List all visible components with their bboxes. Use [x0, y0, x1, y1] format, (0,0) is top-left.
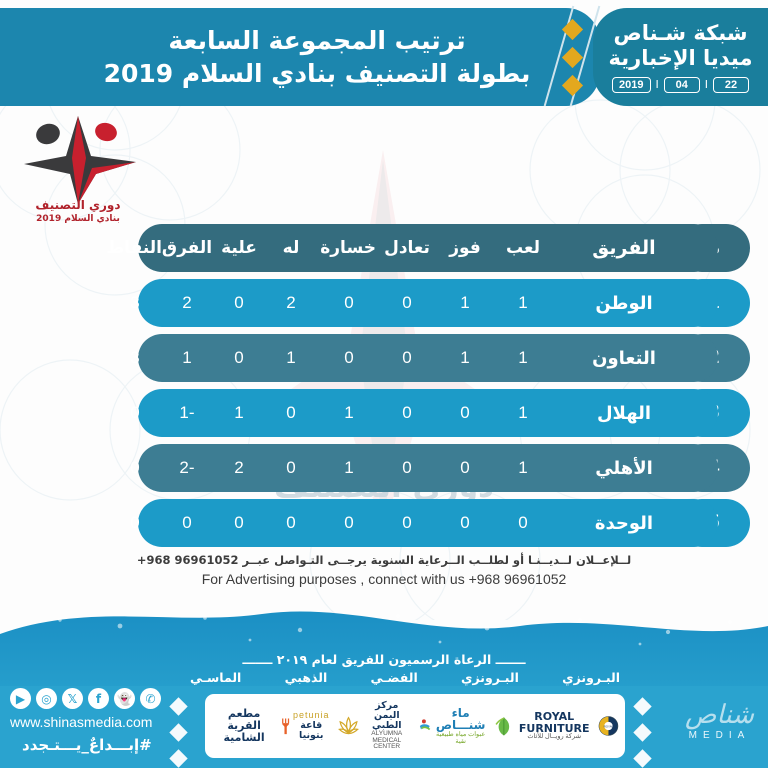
row-draw: 0	[380, 293, 434, 313]
logo-caption-line1: دوري التصنيف	[18, 199, 138, 212]
date-separator: I	[656, 78, 659, 91]
row-played: 1	[496, 348, 550, 368]
ads-arabic-text: لــلإعــلان لــديــنـا أو لطلــب الــرعا…	[0, 552, 768, 569]
row-main: الوطن 1 1 0 0 2 0 2 3	[138, 279, 718, 327]
tier-label: البـرونزي	[461, 670, 519, 685]
row-won: 0	[438, 458, 492, 478]
row-won: 0	[438, 513, 492, 533]
media-brand-sub: MEDIA	[685, 730, 754, 741]
row-team: الهلال	[564, 403, 684, 424]
row-team: الأهلي	[564, 458, 684, 479]
row-lost: 0	[322, 513, 376, 533]
twitter-icon[interactable]: 𝕏	[62, 688, 83, 709]
row-goals-against: 0	[212, 513, 266, 533]
row-draw: 0	[380, 513, 434, 533]
header-col-played: لعب	[496, 238, 550, 258]
row-team: الوحدة	[564, 513, 684, 534]
row-main: الهلال 1 0 0 1 0 1 -1 0	[138, 389, 718, 437]
row-goals-against: 1	[212, 403, 266, 423]
row-lost: 1	[322, 403, 376, 423]
social-links: ✆ 👻 f 𝕏 ◎ ▶	[10, 688, 161, 709]
date-month: 04	[664, 77, 700, 93]
row-draw: 0	[380, 348, 434, 368]
row-won: 1	[438, 293, 492, 313]
sponsor-name-ar: قاعة بتونيا	[290, 721, 332, 741]
table-row[interactable]: 4 الأهلي 1 0 0 1 0 2 -2 0	[0, 444, 768, 492]
sponsor-tiers: البـرونزي البـرونزي الفضـي الذهبي الماسـ…	[190, 670, 620, 685]
tier-label: الماسـي	[190, 670, 241, 685]
row-played: 1	[496, 458, 550, 478]
row-main: الأهلي 1 0 0 1 0 2 -2 0	[138, 444, 718, 492]
row-goals-for: 0	[264, 458, 318, 478]
sponsor-name-en: ALYUMNA MEDICAL CENTER	[361, 731, 413, 751]
sponsor-logos-card: ROYAL ROYAL FURNITURE شركة رويــال للأثا…	[205, 694, 625, 758]
row-points: 3	[108, 293, 162, 313]
ads-english-text: For Advertising purposes , connect with …	[0, 569, 768, 589]
sponsor-shamia-village-restaurant[interactable]: مطعم القرية الشامية	[211, 708, 290, 745]
page-title-line1: ترتيب المجموعة السابعة	[104, 24, 531, 57]
royal-furniture-icon: ROYAL	[598, 711, 619, 741]
diamond-icon	[562, 47, 583, 68]
table-row[interactable]: 2 التعاون 1 1 0 0 1 0 1 3	[0, 334, 768, 382]
header-col-goals-for: له	[264, 238, 318, 258]
row-lost: 1	[322, 458, 376, 478]
divider-diamonds	[552, 8, 592, 106]
row-goal-diff: -1	[160, 403, 214, 423]
sponsor-alyumna-medical[interactable]: مركز اليمن الطبي ALYUMNA MEDICAL CENTER	[361, 701, 433, 751]
row-won: 1	[438, 348, 492, 368]
tier-label: الفضـي	[371, 670, 418, 685]
sponsor-name-ar: ماء شنـــاص	[433, 707, 489, 732]
snapchat-icon[interactable]: 👻	[114, 688, 135, 709]
row-points: 3	[108, 348, 162, 368]
brand-line2: ميديا الإخبارية	[609, 46, 753, 70]
header-col-goal-diff: الفرق	[160, 238, 214, 258]
advertising-notice: لــلإعــلان لــديــنـا أو لطلــب الــرعا…	[0, 552, 768, 590]
table-row[interactable]: 3 الهلال 1 0 0 1 0 1 -1 0	[0, 389, 768, 437]
row-goals-for: 0	[264, 403, 318, 423]
date-separator: I	[705, 78, 708, 91]
row-goal-diff: 1	[160, 348, 214, 368]
row-lost: 0	[322, 348, 376, 368]
fork-icon	[281, 711, 290, 741]
sponsor-name-ar: شركة رويــال للأثاث	[514, 734, 594, 741]
header-team: الفريق	[564, 237, 684, 259]
row-played: 1	[496, 403, 550, 423]
sponsor-shinas-water[interactable]: ماء شنـــاص عبوات مياه طبيعية نقية	[433, 707, 515, 746]
row-won: 0	[438, 403, 492, 423]
media-brand-logo: شناص MEDIA	[685, 700, 754, 741]
row-played: 1	[496, 293, 550, 313]
row-lost: 0	[322, 293, 376, 313]
sponsors-heading: ـــــــ الرعاة الرسميون للفريق لعام ٢٠١٩…	[0, 652, 768, 667]
tier-label: الذهبي	[285, 670, 328, 685]
row-points: 0	[108, 458, 162, 478]
row-draw: 0	[380, 403, 434, 423]
header-col-won: فوز	[438, 238, 492, 258]
standings-table: م الفريق لعب فوز تعادل خسارة له علية الف…	[0, 224, 768, 554]
sponsor-name-en: عبوات مياه طبيعية نقية	[433, 732, 489, 746]
hashtag-slogan: #إبـــداعٌ_يـــتـجدد	[22, 736, 152, 754]
sponsor-name-en: ROYAL FURNITURE	[514, 711, 594, 734]
row-goals-against: 0	[212, 348, 266, 368]
facebook-icon[interactable]: f	[88, 688, 109, 709]
row-points: 0	[108, 403, 162, 423]
leaf-icon	[493, 712, 515, 740]
row-team: التعاون	[564, 348, 684, 369]
lotus-icon	[336, 712, 361, 740]
row-goals-against: 2	[212, 458, 266, 478]
sponsor-royal-furniture[interactable]: ROYAL ROYAL FURNITURE شركة رويــال للأثا…	[514, 711, 619, 741]
table-header-row: م الفريق لعب فوز تعادل خسارة له علية الف…	[0, 224, 768, 272]
row-draw: 0	[380, 458, 434, 478]
date-badge: 2019 I 04 I 22	[612, 77, 749, 93]
sponsor-name-ar: مطعم القرية الشامية	[211, 708, 277, 745]
tier-label: البـرونزي	[562, 670, 620, 685]
row-main: الوحدة 0 0 0 0 0 0 0 0	[138, 499, 718, 547]
header-col-lost: خسارة	[322, 238, 376, 258]
row-team: الوطن	[564, 293, 684, 314]
svg-text:ROYAL: ROYAL	[604, 725, 614, 729]
row-goal-diff: 2	[160, 293, 214, 313]
medical-figure-icon	[417, 712, 433, 740]
title-panel: ترتيب المجموعة السابعة بطولة التصنيف بنا…	[0, 8, 600, 106]
page-title-line2: بطولة التصنيف بنادي السلام 2019	[104, 57, 531, 90]
website-url[interactable]: www.shinasmedia.com	[10, 714, 152, 730]
header-col-goals-against: علية	[212, 238, 266, 258]
star-figure-icon	[18, 112, 138, 204]
media-brand-script: شناص	[685, 700, 754, 730]
brand-line1: شبكة شـناص	[613, 21, 747, 45]
youtube-icon[interactable]: ▶	[10, 688, 31, 709]
table-row[interactable]: 5 الوحدة 0 0 0 0 0 0 0 0	[0, 499, 768, 547]
tournament-logo: دوري التصنيف بنادي السلام 2019	[18, 112, 138, 224]
row-played: 0	[496, 513, 550, 533]
row-goals-for: 1	[264, 348, 318, 368]
header-main: الفريق لعب فوز تعادل خسارة له علية الفرق…	[138, 224, 718, 272]
row-goals-for: 2	[264, 293, 318, 313]
date-day: 22	[713, 77, 749, 93]
sponsor-name-ar: مركز اليمن الطبي	[361, 701, 413, 731]
logo-caption-line2: بنادي السلام 2019	[18, 214, 138, 224]
infographic-root: دوري التصنيف بنادي السلام 2019 ترتيب الم…	[0, 0, 768, 768]
diamond-icon	[562, 75, 583, 96]
row-goal-diff: 0	[160, 513, 214, 533]
row-goal-diff: -2	[160, 458, 214, 478]
header-col-draw: تعادل	[380, 238, 434, 258]
top-header: ترتيب المجموعة السابعة بطولة التصنيف بنا…	[0, 8, 768, 108]
row-goals-against: 0	[212, 293, 266, 313]
table-row[interactable]: 1 الوطن 1 1 0 0 2 0 2 3	[0, 279, 768, 327]
whatsapp-icon[interactable]: ✆	[140, 688, 161, 709]
row-goals-for: 0	[264, 513, 318, 533]
row-main: التعاون 1 1 0 0 1 0 1 3	[138, 334, 718, 382]
row-points: 0	[108, 513, 162, 533]
header-col-points: النقاط	[108, 238, 162, 258]
date-year: 2019	[612, 77, 650, 93]
brand-panel: شبكة شـناص ميديا الإخبارية 2019 I 04 I 2…	[593, 8, 768, 106]
sponsor-petunia-hall[interactable]: petunia قاعة بتونيا	[290, 711, 361, 740]
instagram-icon[interactable]: ◎	[36, 688, 57, 709]
